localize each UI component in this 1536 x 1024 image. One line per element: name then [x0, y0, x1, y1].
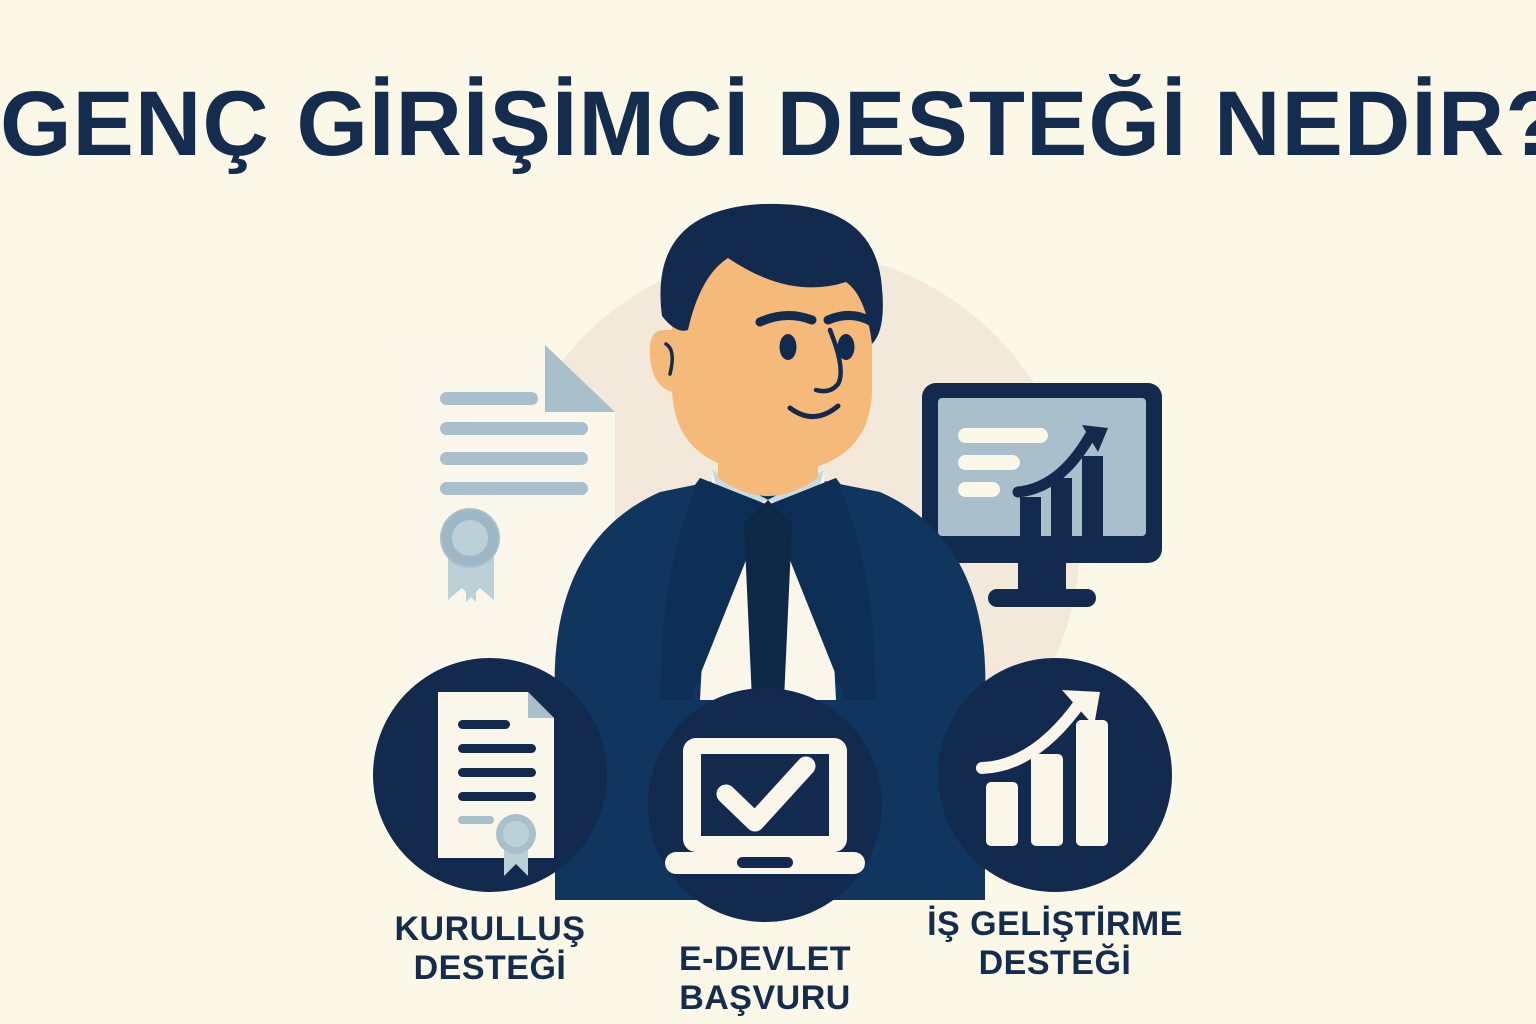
- monitor-bar-2: [1051, 478, 1072, 537]
- feature-circle-edevlet[interactable]: [648, 688, 882, 922]
- feature-label-edevlet-line2: BAŞVURU: [620, 979, 910, 1018]
- necktie: [744, 500, 792, 700]
- feature-label-kurulus-line2: DESTEĞİ: [330, 949, 650, 988]
- monitor-stand-neck: [1018, 563, 1066, 591]
- feature-label-is-gelistirme-line2: DESTEĞİ: [880, 944, 1230, 983]
- certificate-seal: [440, 508, 500, 568]
- certificate-icon: [438, 692, 554, 876]
- feature-circle-is-gelistirme[interactable]: [938, 658, 1172, 892]
- certificate-line-4: [440, 482, 588, 495]
- laptop-check-icon: [665, 738, 865, 874]
- monitor-bar-1: [1020, 497, 1041, 537]
- feature-label-edevlet-line1: E-DEVLET: [620, 940, 910, 979]
- monitor-text-line-3: [958, 482, 1000, 497]
- feature-label-kurulus: KURULLUŞ DESTEĞİ: [330, 910, 650, 988]
- monitor-stand-base: [988, 589, 1096, 607]
- certificate-line-2: [440, 422, 588, 435]
- monitor-bar-3: [1082, 456, 1103, 537]
- feature-label-is-gelistirme: İŞ GELİŞTİRME DESTEĞİ: [880, 905, 1230, 983]
- illustration-svg: [0, 0, 1536, 1024]
- eye-left: [780, 334, 797, 360]
- infographic-canvas: GENÇ GİRİŞİMCİ DESTEĞİ NEDİR?: [0, 0, 1536, 1024]
- feature-label-kurulus-line1: KURULLUŞ: [330, 910, 650, 949]
- monitor-text-line-2: [958, 455, 1020, 470]
- monitor-text-line-1: [958, 428, 1048, 443]
- feature-circle-kurulus[interactable]: [373, 658, 607, 892]
- certificate-line-1: [440, 392, 538, 405]
- certificate-line-3: [440, 452, 588, 465]
- feature-label-edevlet: E-DEVLET BAŞVURU: [620, 940, 910, 1018]
- feature-label-is-gelistirme-line1: İŞ GELİŞTİRME: [880, 905, 1230, 944]
